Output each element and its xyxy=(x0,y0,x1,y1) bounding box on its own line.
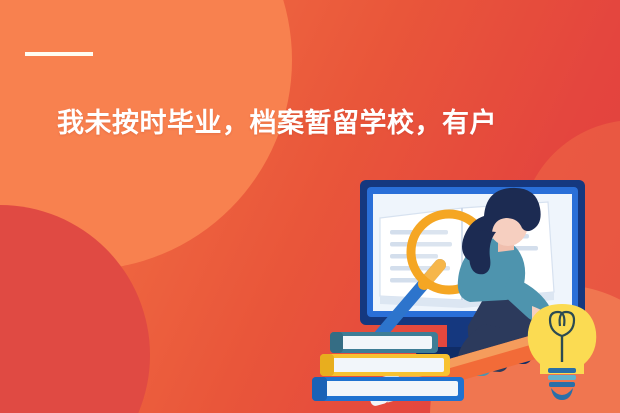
book-teal xyxy=(330,332,438,353)
lightbulb-icon xyxy=(528,304,597,400)
promo-banner: 我未按时毕业，档案暂留学校，有户 xyxy=(0,0,620,413)
study-research-illustration xyxy=(312,172,620,413)
background-blob-mid-left xyxy=(0,205,150,413)
book-yellow xyxy=(320,354,450,376)
banner-headline: 我未按时毕业，档案暂留学校，有户 xyxy=(57,106,617,140)
book-blue xyxy=(312,377,464,401)
book-stack-icon xyxy=(312,332,464,401)
accent-rule xyxy=(25,52,93,56)
